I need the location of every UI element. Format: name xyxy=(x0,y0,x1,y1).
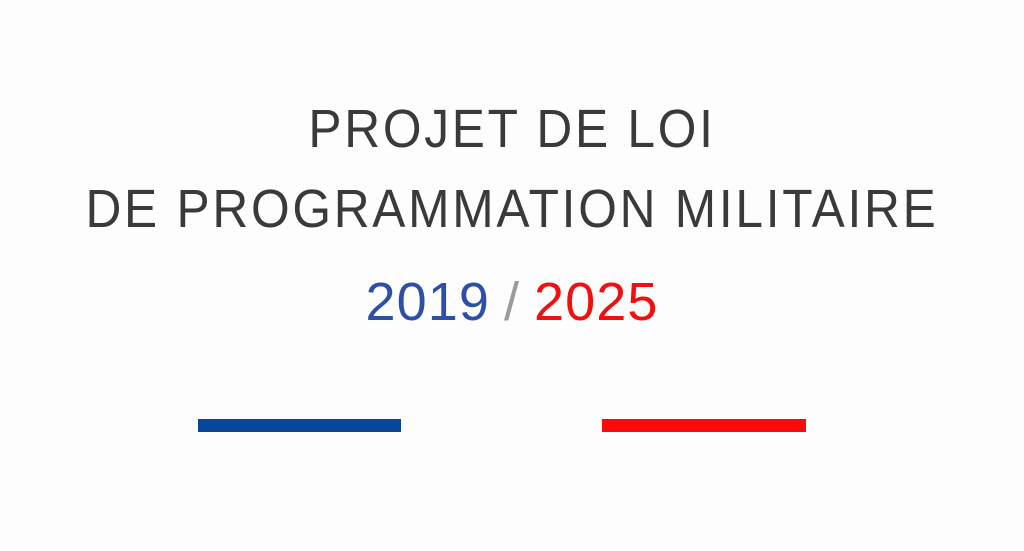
page-title: PROJET DE LOI DE PROGRAMMATION MILITAIRE xyxy=(0,100,1024,238)
period-separator: / xyxy=(490,272,534,332)
period-end-year: 2025 xyxy=(534,272,658,332)
period-range: 2019/2025 xyxy=(0,272,1024,332)
decorative-rule-blue xyxy=(198,419,401,432)
period-start-year: 2019 xyxy=(366,272,490,332)
title-line-primary: PROJET DE LOI xyxy=(41,100,983,158)
title-line-secondary: DE PROGRAMMATION MILITAIRE xyxy=(41,180,983,238)
decorative-rule-red xyxy=(602,419,806,432)
title-slide: PROJET DE LOI DE PROGRAMMATION MILITAIRE… xyxy=(0,0,1024,551)
